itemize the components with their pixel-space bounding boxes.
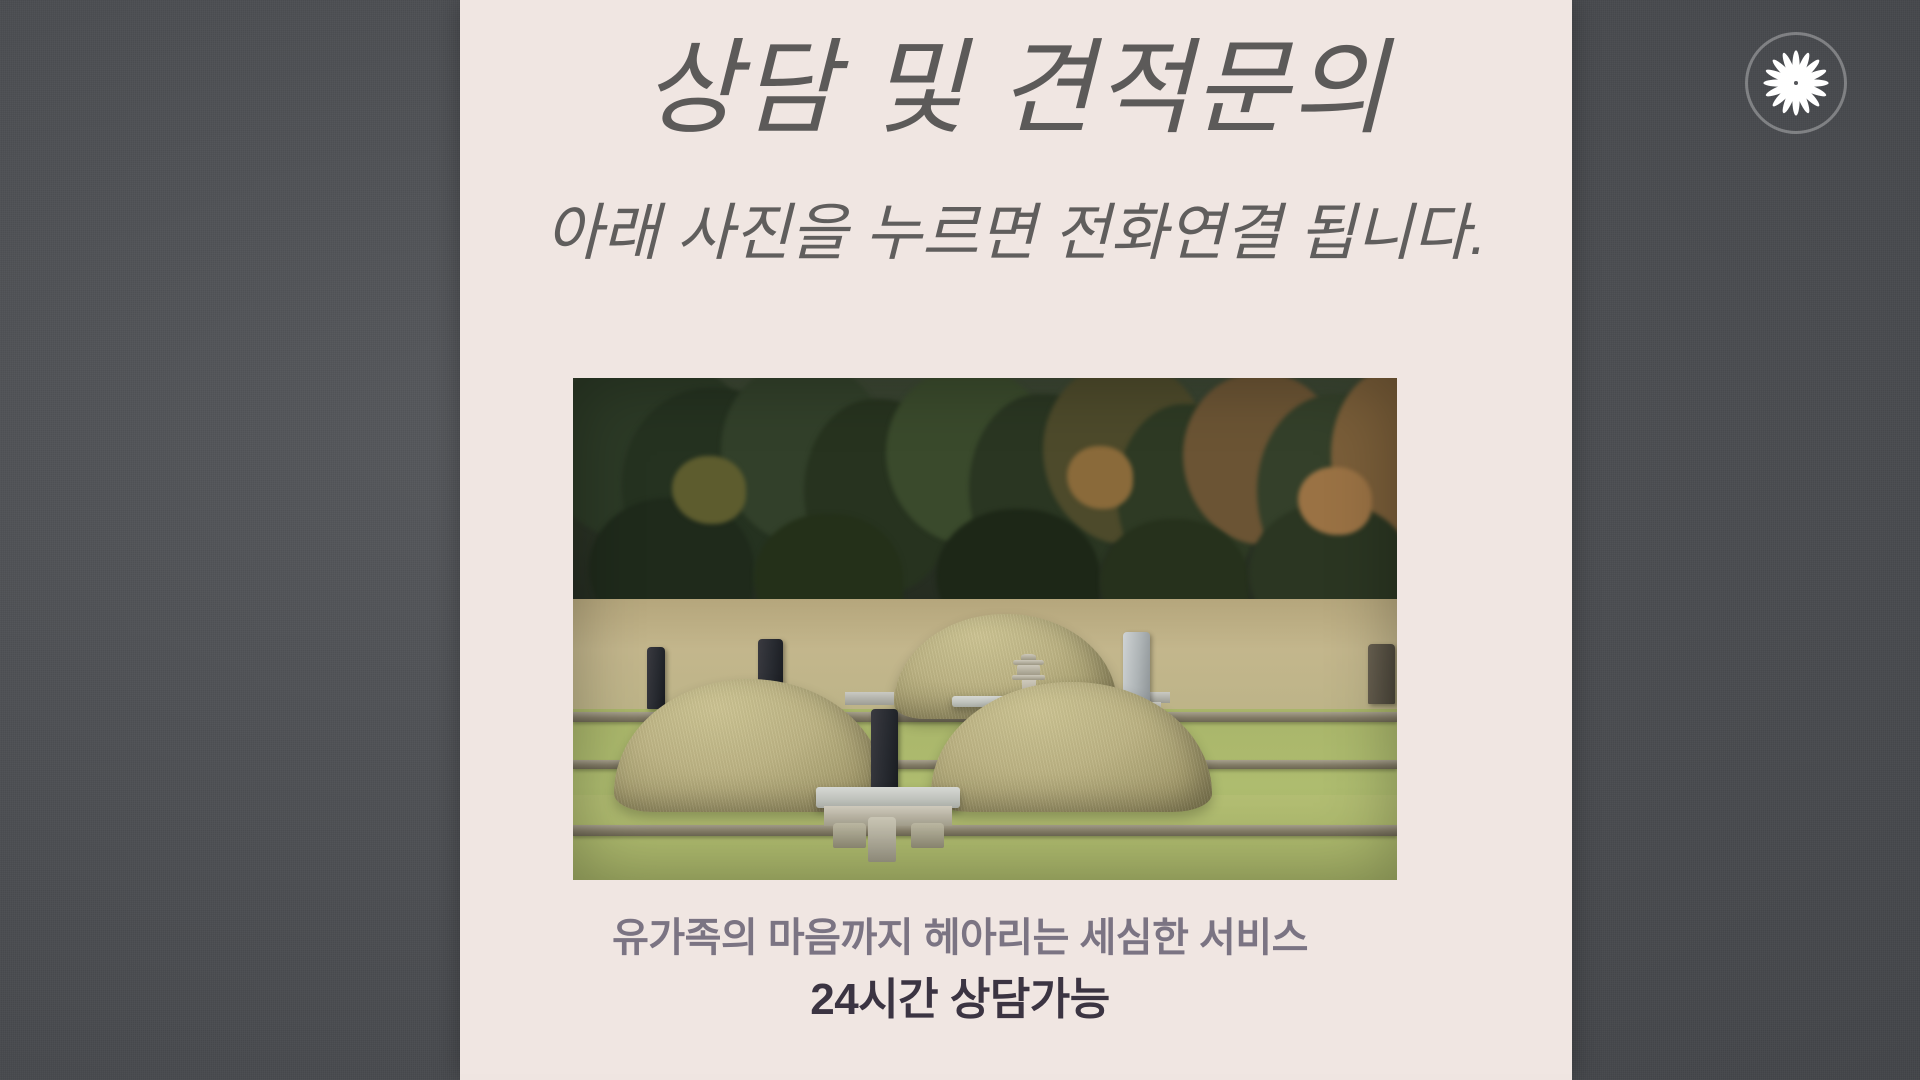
page-title: 상담 및 견적문의 — [460, 28, 1572, 151]
brand-badge[interactable] — [1745, 32, 1847, 134]
photo-scene — [573, 378, 1397, 880]
page-subtitle: 아래 사진을 누르면 전화연결 됩니다. — [460, 195, 1572, 273]
tap-to-call-photo[interactable] — [573, 378, 1397, 880]
caption-availability-line: 24시간 상담가능 — [0, 963, 1920, 1027]
caption-service-line: 유가족의 마음까지 헤아리는 세심한 서비스 — [0, 905, 1920, 963]
photo-vignette — [573, 378, 1397, 880]
card-bottom-strip — [460, 1074, 1572, 1080]
chrysanthemum-flower-icon — [1762, 49, 1830, 117]
